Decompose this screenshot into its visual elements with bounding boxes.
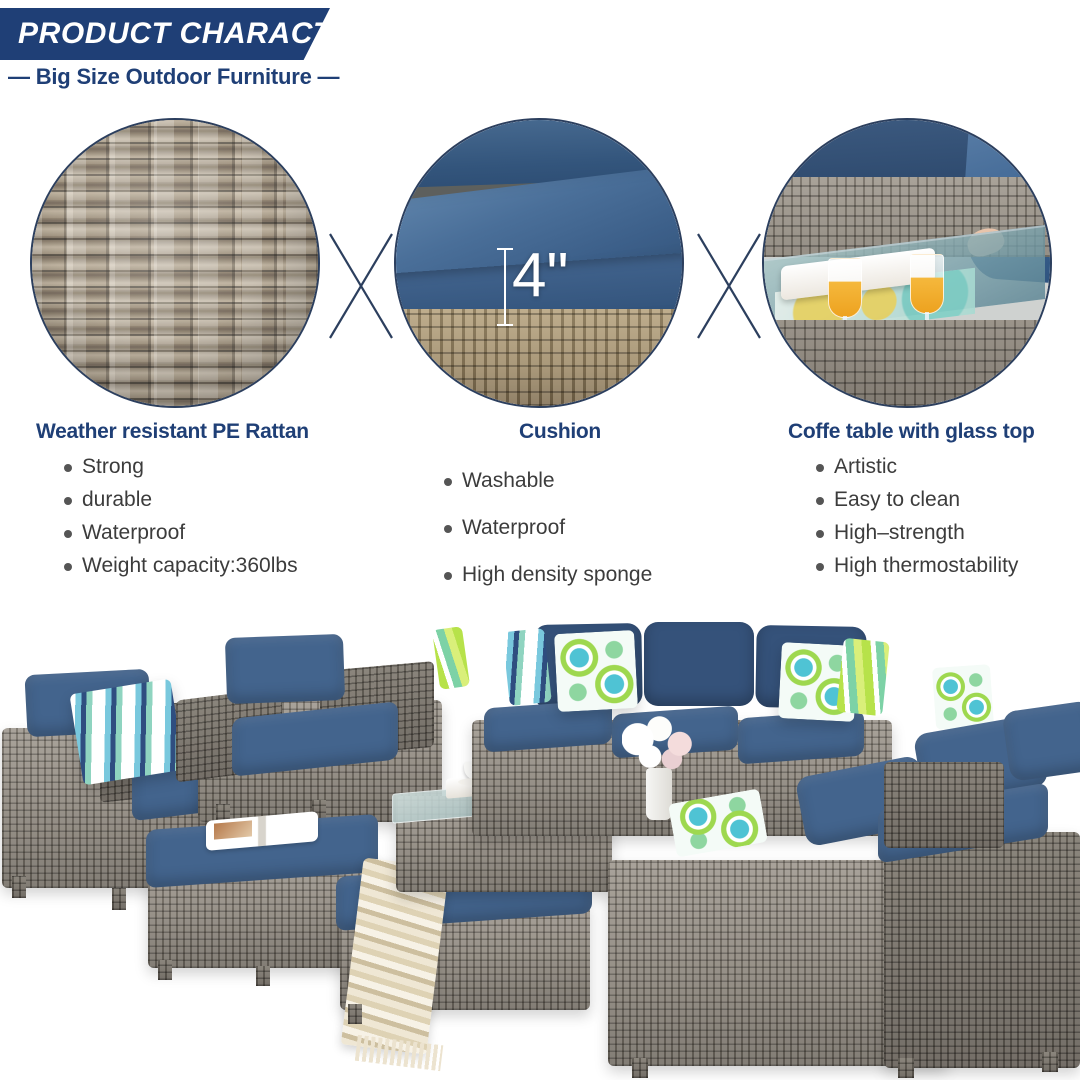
x-connector-svg: [696, 230, 762, 342]
list-item: Strong: [60, 456, 366, 477]
list-item: durable: [60, 489, 366, 510]
table-base-weave: [764, 320, 1050, 406]
feature-title: Cushion: [440, 420, 760, 444]
sectional-right-far-body: [884, 832, 1080, 1068]
feature-bullet-list: Artistic Easy to clean High–strength Hig…: [788, 456, 1078, 576]
throw-fringe: [355, 1035, 444, 1071]
banner-title: PRODUCT CHARACTER: [18, 17, 375, 51]
ottoman-right-leg: [348, 1004, 362, 1024]
feature-image-coffee-table: [762, 118, 1052, 408]
feature-circles-row: 4": [0, 118, 1080, 408]
feature-title: Weather resistant PE Rattan: [36, 420, 366, 444]
sofa-green-pillow: [836, 638, 889, 716]
coffee-table-photo: [764, 120, 1050, 406]
list-item: Waterproof: [60, 522, 366, 543]
ottoman-left-leg: [256, 966, 270, 986]
armchair-left-leg: [12, 876, 26, 898]
sofa-medallion-pillow: [932, 664, 994, 730]
product-character-infographic: PRODUCT CHARACTER — Big Size Outdoor Fur…: [0, 0, 1080, 1080]
sofa-medallion-pillow: [554, 630, 638, 712]
list-item: Washable: [440, 470, 760, 491]
sofa-green-pillow: [432, 626, 470, 690]
glass-bowl: [828, 258, 862, 318]
magazine-photo: [214, 820, 252, 839]
x-connector-icon: [328, 230, 394, 342]
armchair-left-leg: [112, 888, 126, 910]
flower-bouquet: [622, 716, 700, 774]
rattan-weave-photo: [32, 120, 318, 406]
sofa-back-cushion: [644, 622, 754, 706]
x-connector-icon: [696, 230, 762, 342]
ottoman-left-leg: [158, 960, 172, 980]
list-item: Artistic: [812, 456, 1078, 477]
side-table: [884, 762, 1004, 848]
feature-image-pe-rattan: [30, 118, 320, 408]
feature-text-columns: Weather resistant PE Rattan Strong durab…: [0, 420, 1080, 595]
feature-title: Coffe table with glass top: [788, 420, 1078, 444]
cushion-photo: 4": [396, 120, 682, 406]
list-item: High–strength: [812, 522, 1078, 543]
armchair-left-striped-pillow: [69, 679, 184, 786]
feature-bullet-list: Washable Waterproof High density sponge: [440, 470, 760, 585]
x-connector-svg: [328, 230, 394, 342]
feature-column-pe-rattan: Weather resistant PE Rattan Strong durab…: [36, 420, 366, 576]
feature-image-cushion: 4": [394, 118, 684, 408]
armchair-right-back-cushion: [225, 634, 345, 704]
list-item: Weight capacity:360lbs: [60, 555, 366, 576]
hero-furniture-photo: [0, 600, 1080, 1080]
sectional-leg: [1042, 1052, 1058, 1072]
header-banner: PRODUCT CHARACTER: [0, 8, 330, 60]
flower-vase: [646, 768, 672, 820]
dimension-line-icon: [504, 248, 506, 326]
header-subtitle: — Big Size Outdoor Furniture —: [8, 64, 338, 90]
feature-bullet-list: Strong durable Waterproof Weight capacit…: [36, 456, 366, 576]
list-item: High density sponge: [440, 564, 760, 585]
cushion-thickness-label: 4": [512, 247, 569, 306]
feature-column-cushion: Cushion Washable Waterproof High density…: [440, 420, 760, 585]
sofa-striped-pillow: [502, 628, 552, 706]
cushion-rattan-base: [396, 309, 682, 406]
sectional-leg: [898, 1058, 914, 1078]
list-item: Waterproof: [440, 517, 760, 538]
rattan-vignette: [32, 120, 318, 406]
list-item: High thermostability: [812, 555, 1078, 576]
sectional-leg: [632, 1058, 648, 1078]
list-item: Easy to clean: [812, 489, 1078, 510]
feature-column-coffee-table: Coffe table with glass top Artistic Easy…: [788, 420, 1078, 576]
sectional-right-back-cushion: [1002, 700, 1080, 782]
glass-bowl: [910, 254, 944, 314]
